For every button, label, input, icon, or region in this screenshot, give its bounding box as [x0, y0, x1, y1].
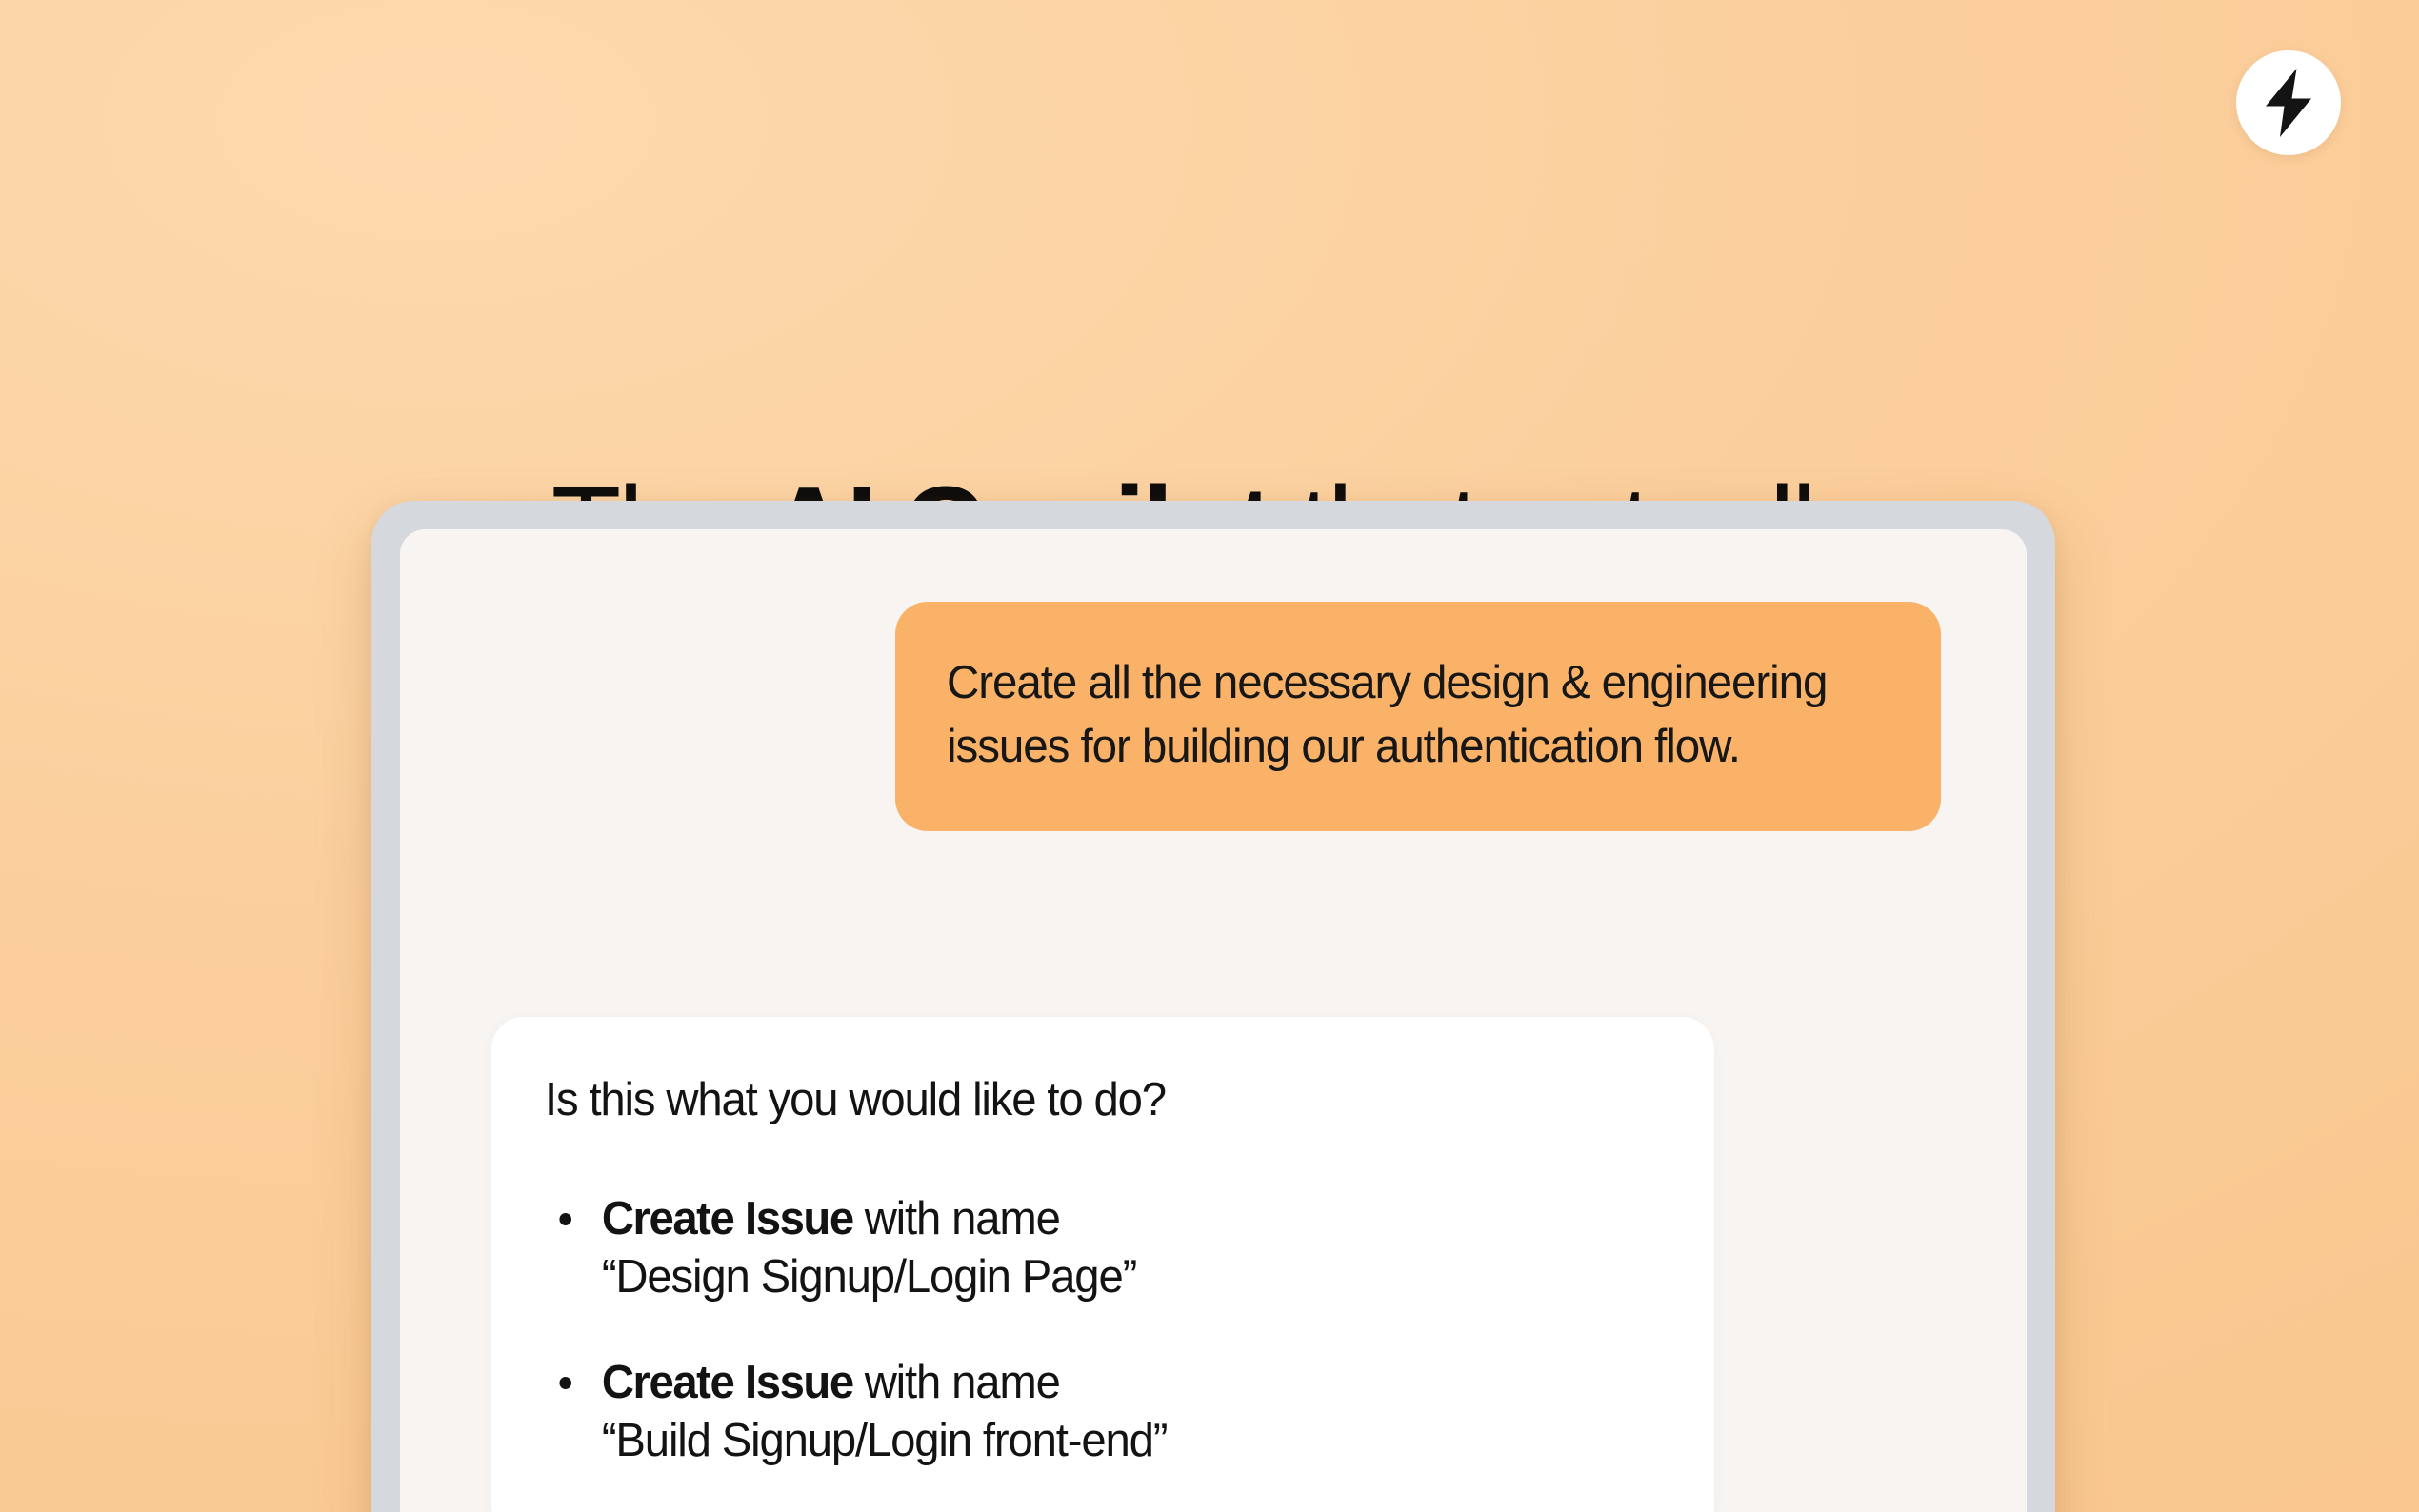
list-item[interactable]: Create Issue with name “Design Signup/Lo…	[545, 1190, 1622, 1307]
action-value: “Build Signup/Login front-end”	[602, 1412, 1622, 1470]
hero-banner: The AI Copilot that actually gets things…	[0, 0, 2419, 1512]
assistant-prompt-text: Is this what you would like to do?	[545, 1070, 1622, 1131]
list-item[interactable]: Create Issue with name “Build Signup/Log…	[545, 1354, 1622, 1471]
device-screen: Create all the necessary design & engine…	[400, 529, 2027, 1512]
device-frame: Create all the necessary design & engine…	[371, 501, 2055, 1512]
user-message-text: Create all the necessary design & engine…	[947, 651, 1861, 778]
action-tail: with name	[853, 1357, 1060, 1408]
brand-badge	[2236, 50, 2341, 155]
action-tail: with name	[853, 1193, 1060, 1244]
assistant-response-card: Is this what you would like to do? Creat…	[491, 1017, 1714, 1512]
bullet-icon	[559, 1213, 571, 1225]
user-message-bubble: Create all the necessary design & engine…	[895, 602, 1941, 831]
bullet-icon	[559, 1377, 571, 1389]
action-name: Create Issue	[602, 1357, 853, 1408]
action-value: “Design Signup/Login Page”	[602, 1248, 1622, 1306]
lightning-bolt-icon	[2260, 67, 2317, 139]
proposed-actions-list: Create Issue with name “Design Signup/Lo…	[545, 1190, 1661, 1471]
action-name: Create Issue	[602, 1193, 853, 1244]
